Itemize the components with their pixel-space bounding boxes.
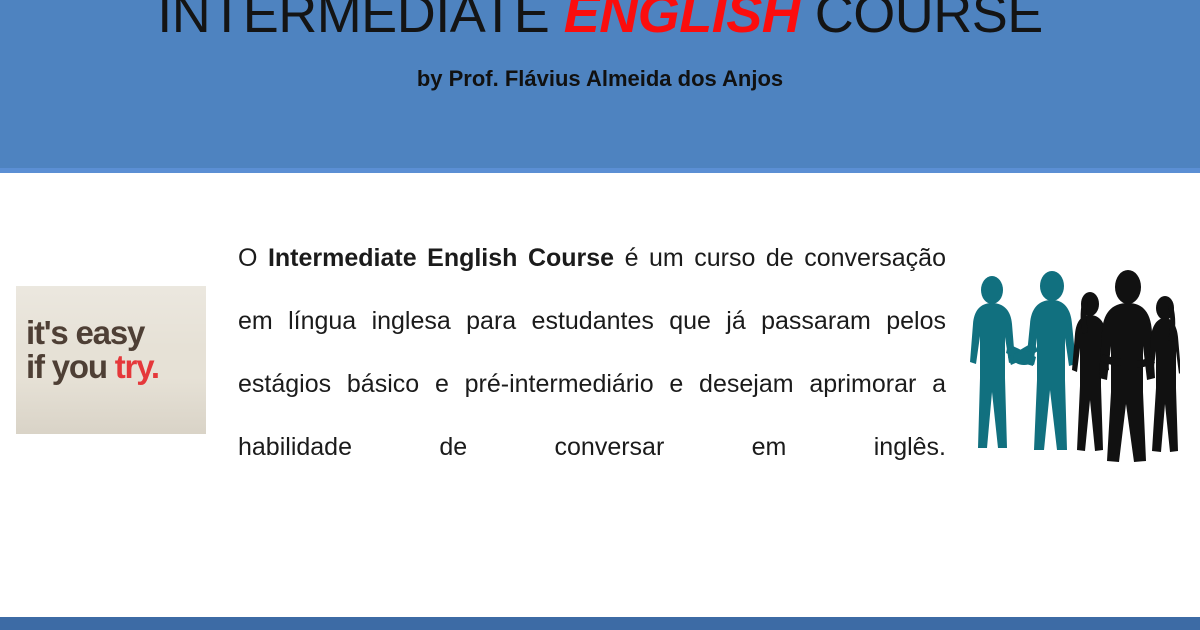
footer-bar (0, 617, 1200, 630)
body-content-area: it's easy if you try. O Intermediate Eng… (0, 173, 1200, 617)
title-word-intermediate: INTERMEDIATE (157, 0, 564, 44)
course-description-paragraph: O Intermediate English Course é um curso… (238, 227, 946, 542)
page-title: INTERMEDIATE ENGLISH COURSE (0, 0, 1200, 46)
poster-line-2: if you try. (26, 350, 201, 384)
page-subtitle-author: by Prof. Flávius Almeida dos Anjos (0, 66, 1200, 92)
header-band: INTERMEDIATE ENGLISH COURSE by Prof. Flá… (0, 0, 1200, 168)
teal-handshake-pair (970, 271, 1076, 450)
title-word-course: COURSE (800, 0, 1043, 44)
paragraph-course-name: Intermediate English Course (268, 244, 614, 272)
motivational-poster-image: it's easy if you try. (16, 286, 206, 434)
paragraph-prefix: O (238, 244, 268, 272)
people-silhouettes-graphic (962, 258, 1180, 473)
slide-page: INTERMEDIATE ENGLISH COURSE by Prof. Flá… (0, 0, 1200, 630)
people-silhouettes-svg (962, 258, 1180, 473)
poster-line-2-text: if you (26, 348, 115, 385)
title-word-english: ENGLISH (564, 0, 801, 44)
poster-accent-word: try. (115, 348, 159, 385)
paragraph-rest: é um curso de conversação em língua ingl… (238, 244, 946, 461)
poster-text: it's easy if you try. (26, 316, 201, 384)
poster-line-1: it's easy (26, 316, 201, 350)
black-group-trio (1072, 270, 1180, 462)
